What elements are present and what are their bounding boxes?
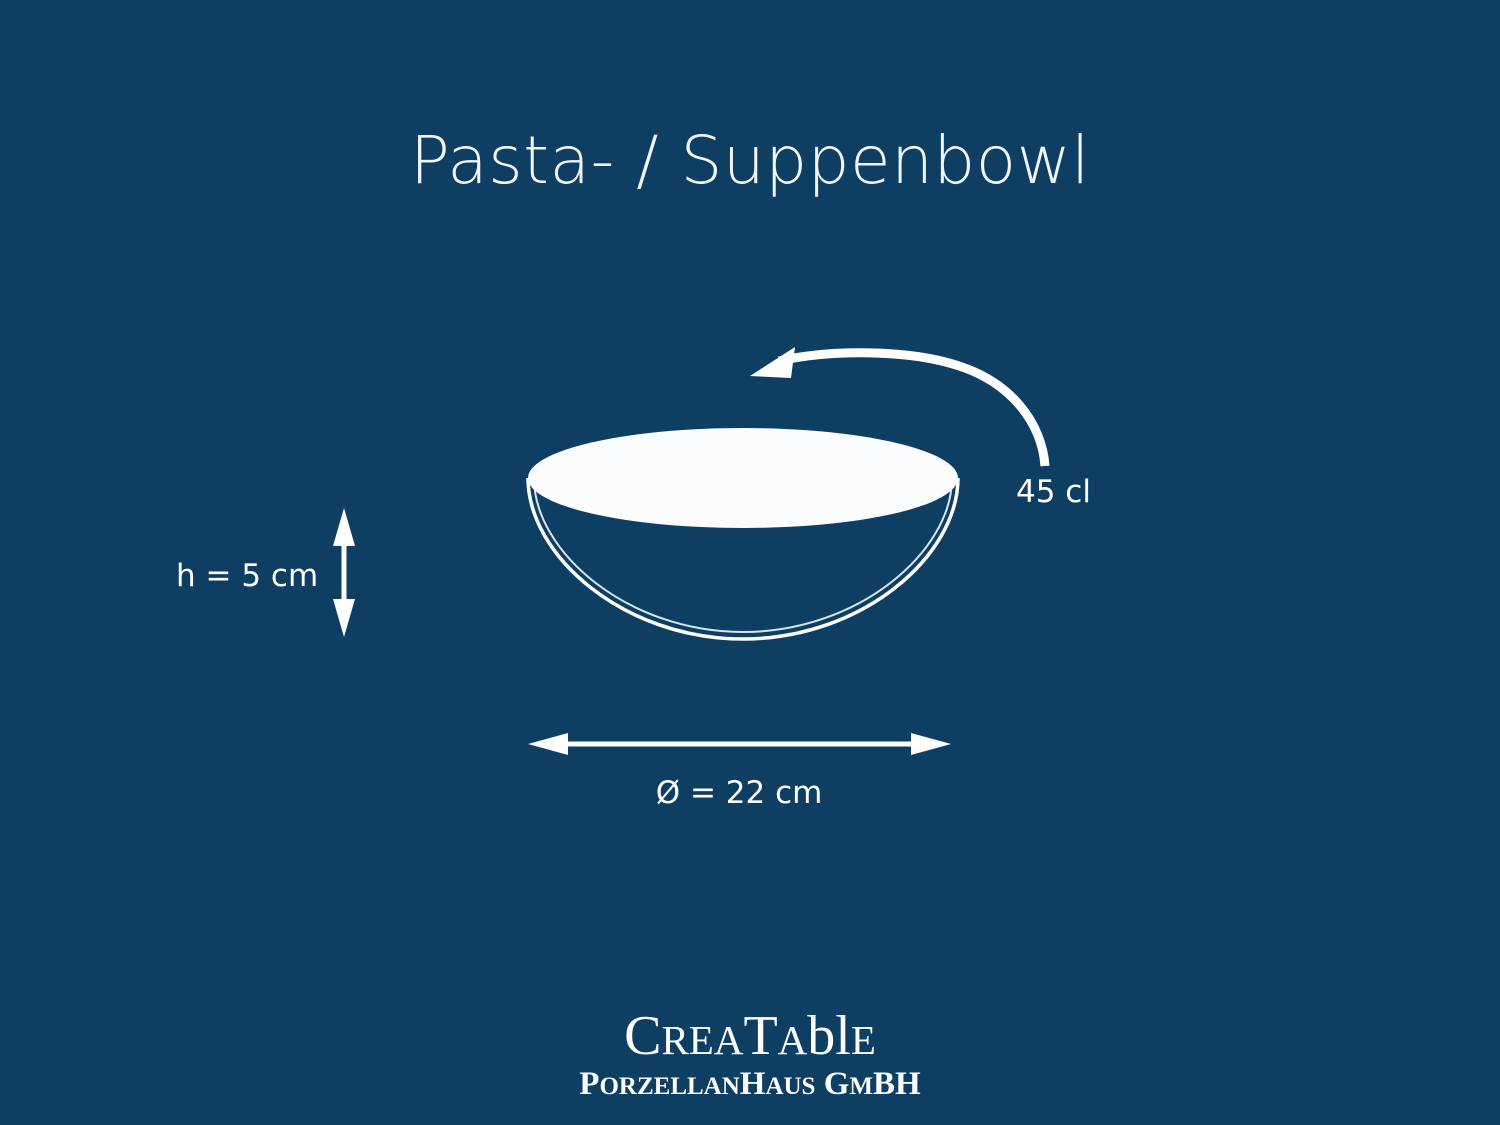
product-spec-slide: Pasta- / Suppenbowl h = 5 cm: [0, 0, 1500, 1125]
diameter-dimension-label: Ø = 22 cm: [527, 775, 951, 811]
diameter-arrow-head-left: [528, 733, 568, 755]
brand-glyph-group: AUS: [765, 1073, 815, 1100]
brand-glyph-group: b: [807, 1005, 835, 1067]
volume-arrow-head: [750, 347, 795, 378]
brand-glyph-group: B: [873, 1066, 895, 1102]
brand-glyph-group: REA: [661, 1017, 743, 1063]
brand-glyph-group: M: [849, 1073, 873, 1100]
brand-glyph-group: E: [851, 1017, 876, 1063]
height-dimension-label: h = 5 cm: [176, 558, 318, 594]
height-dimension-arrow: [333, 508, 355, 637]
height-arrow-head-down: [333, 599, 355, 637]
brand-glyph-group: T: [743, 1005, 777, 1067]
brand-glyph-group: H: [740, 1066, 766, 1102]
brand-glyph-group: ORZELLAN: [599, 1073, 739, 1100]
brand-name: CREATAblE: [0, 1008, 1500, 1064]
brand-subtitle: PORZELLANHAUS GMBH: [0, 1068, 1500, 1101]
brand-glyph-group: l: [835, 1005, 851, 1067]
brand-glyph-group: H: [895, 1066, 921, 1102]
brand-glyph-group: A: [778, 1017, 808, 1063]
diameter-arrow-head-right: [911, 733, 951, 755]
diameter-dimension-arrow: [528, 733, 951, 755]
brand-glyph-group: P: [579, 1066, 599, 1102]
volume-label: 45 cl: [1016, 474, 1091, 510]
brand-glyph-group: C: [624, 1005, 661, 1067]
bowl-illustration: [528, 428, 958, 639]
brand-glyph-group: G: [815, 1066, 849, 1102]
bowl-rim-ellipse: [528, 428, 958, 528]
brand-logo: CREATAblE PORZELLANHAUS GMBH: [0, 1008, 1500, 1101]
height-arrow-head-up: [333, 508, 355, 546]
